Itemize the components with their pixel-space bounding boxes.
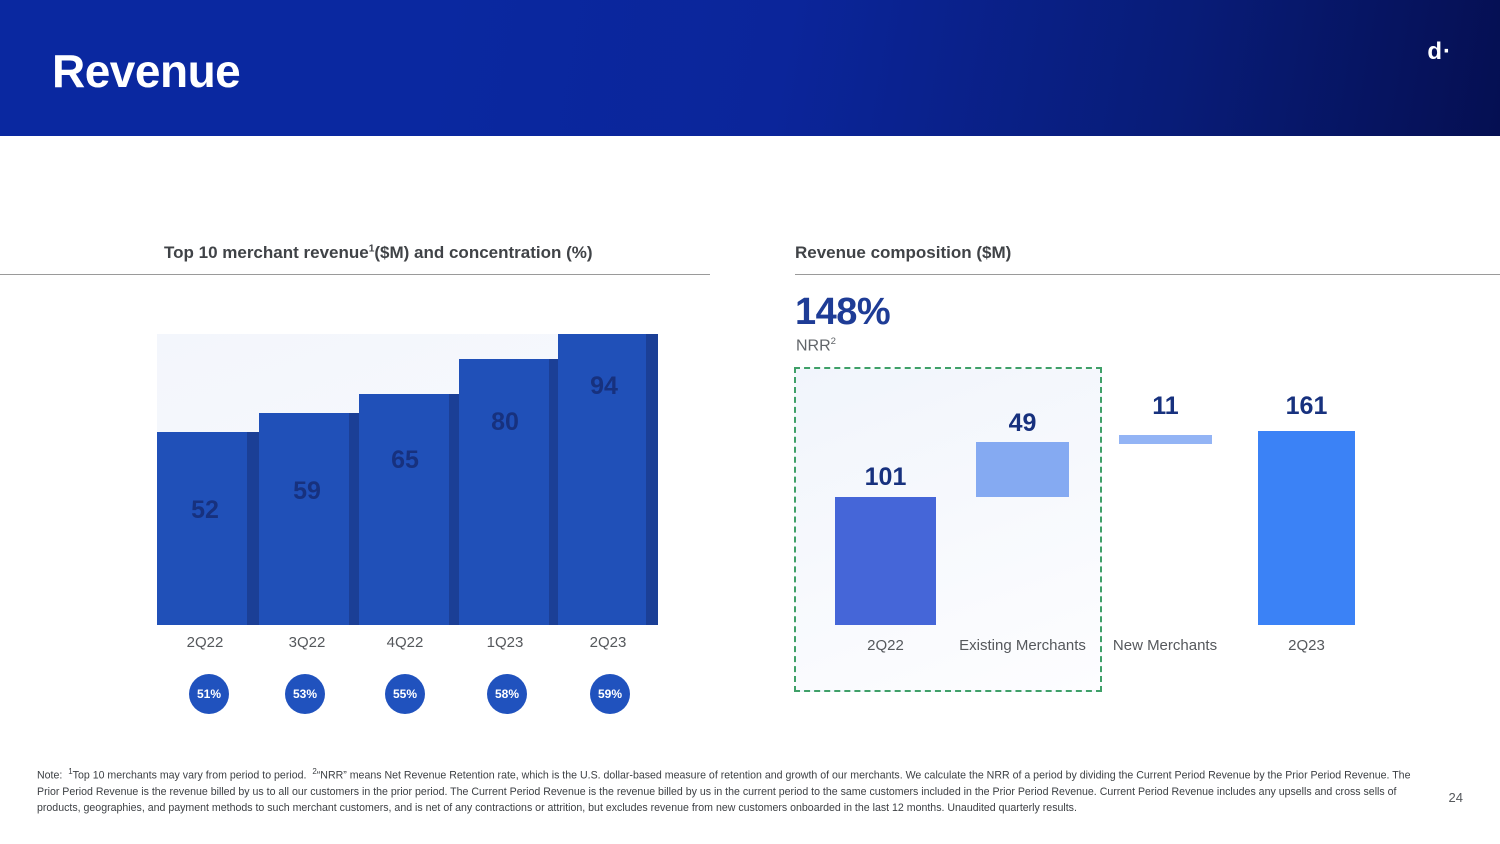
wf-x-label-existing-merchants: Existing Merchants <box>955 637 1090 654</box>
left-chart-title-suffix: ($M) and concentration (%) <box>374 243 592 262</box>
wf-value-2q23: 161 <box>1258 392 1355 421</box>
footnote-marker-2: 2 <box>831 336 836 347</box>
bar-value-3q22: 59 <box>257 477 357 506</box>
slide: Revenue d· Top 10 merchant revenue1($M) … <box>0 0 1500 844</box>
bar-1q23 <box>459 359 549 625</box>
x-label-2q23: 2Q23 <box>558 634 658 651</box>
wf-value-existing-merchants: 49 <box>976 409 1069 438</box>
wf-bar-2q22 <box>835 497 936 625</box>
wf-x-label-2q23: 2Q23 <box>1258 637 1355 654</box>
wf-bar-2q23 <box>1258 431 1355 625</box>
x-label-3q22: 3Q22 <box>257 634 357 651</box>
footnote: Note: 1Top 10 merchants may vary from pe… <box>37 764 1417 816</box>
bar-3q22 <box>259 413 349 625</box>
bar-value-1q23: 80 <box>455 408 555 437</box>
nrr-label-text: NRR <box>796 337 831 354</box>
bar-2q22-edge <box>247 432 259 625</box>
company-logo: d· <box>1427 38 1452 66</box>
bar-value-2q23: 94 <box>554 372 654 401</box>
bar-2q22 <box>157 432 247 625</box>
left-chart-title: Top 10 merchant revenue1($M) and concent… <box>164 243 593 263</box>
x-label-2q22: 2Q22 <box>155 634 255 651</box>
wf-x-label-2q22: 2Q22 <box>835 637 936 654</box>
x-label-4q22: 4Q22 <box>355 634 455 651</box>
page-number: 24 <box>1449 790 1463 805</box>
bar-value-2q22: 52 <box>155 496 255 525</box>
wf-value-new-merchants: 11 <box>1119 392 1212 421</box>
x-label-1q23: 1Q23 <box>455 634 555 651</box>
concentration-badge-2q22: 51% <box>189 674 229 714</box>
concentration-badge-2q23: 59% <box>590 674 630 714</box>
footnote-note-label: Note: <box>37 770 62 782</box>
wf-bar-existing-merchants <box>976 442 1069 497</box>
left-panel-divider <box>0 274 710 275</box>
right-panel-divider <box>795 274 1500 275</box>
bar-4q22 <box>359 394 449 625</box>
left-chart-title-text: Top 10 merchant revenue <box>164 243 369 262</box>
slide-header: Revenue d· <box>0 0 1500 136</box>
nrr-label: NRR2 <box>796 336 836 355</box>
right-chart-title: Revenue composition ($M) <box>795 243 1011 263</box>
concentration-badge-4q22: 55% <box>385 674 425 714</box>
footnote-text-1: Top 10 merchants may vary from period to… <box>73 770 307 782</box>
wf-x-label-new-merchants: New Merchants <box>1100 637 1230 654</box>
wf-bar-new-merchants <box>1119 435 1212 444</box>
concentration-badge-3q22: 53% <box>285 674 325 714</box>
page-title: Revenue <box>52 44 240 98</box>
bar-value-4q22: 65 <box>355 446 455 475</box>
nrr-value: 148% <box>795 291 890 334</box>
concentration-badge-1q23: 58% <box>487 674 527 714</box>
wf-value-2q22: 101 <box>835 463 936 492</box>
